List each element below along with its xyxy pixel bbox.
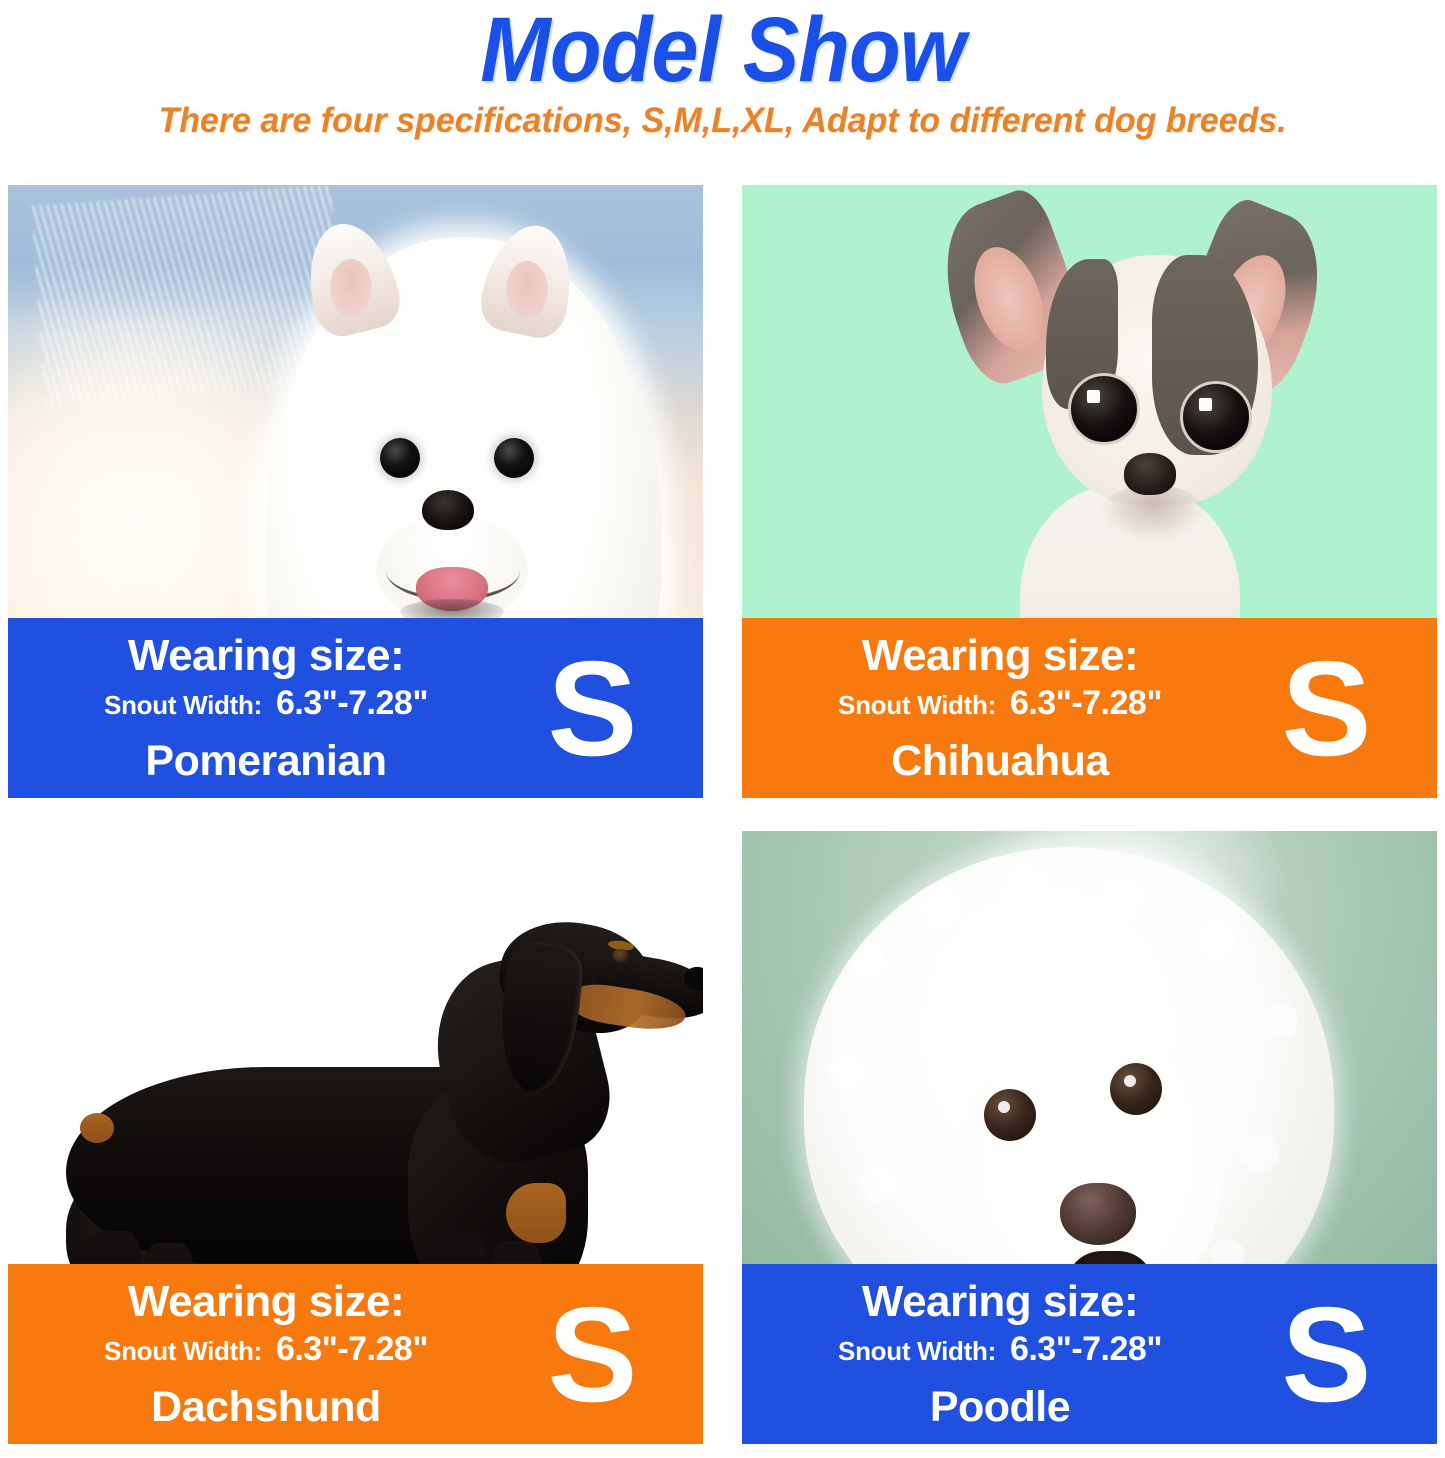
dog-ear-inner-left [330,259,372,317]
size-badge: S [500,641,703,776]
breed-card-grid: Wearing size: Snout Width:6.3"-7.28" Pom… [8,185,1437,1444]
breed-name: Poodle [772,1382,1228,1432]
size-label-text: Wearing size: Snout Width:6.3"-7.28" Pom… [8,631,500,786]
dog-nose [422,490,474,530]
breed-card-chihuahua[interactable]: Wearing size: Snout Width:6.3"-7.28" Chi… [742,185,1437,798]
dog-eye-right [1180,381,1252,453]
size-badge: S [1234,1287,1437,1422]
snout-width-value: 6.3"-7.28" [276,1330,428,1368]
page-subtitle: There are four specifications, S,M,L,XL,… [22,100,1424,142]
snout-width-row: Snout Width:6.3"-7.28" [38,681,494,736]
wearing-size-label: Wearing size: [772,1277,1228,1327]
breed-name: Pomeranian [38,736,494,786]
snout-width-label: Snout Width: [104,1336,262,1366]
breed-card-pomeranian[interactable]: Wearing size: Snout Width:6.3"-7.28" Pom… [8,185,703,798]
dog-eye-left [380,438,420,478]
dog-eye-glint-right [1199,398,1212,411]
snout-width-row: Snout Width:6.3"-7.28" [38,1327,494,1382]
breed-name: Dachshund [38,1382,494,1432]
size-label-bar-poodle: Wearing size: Snout Width:6.3"-7.28" Poo… [742,1264,1437,1444]
size-label-bar-chihuahua: Wearing size: Snout Width:6.3"-7.28" Chi… [742,618,1437,798]
wearing-size-label: Wearing size: [772,631,1228,681]
wearing-size-label: Wearing size: [38,631,494,681]
dog-photo-pomeranian [8,185,703,618]
snout-width-label: Snout Width: [104,690,262,720]
dog-eye-right [494,438,534,478]
snout-width-value: 6.3"-7.28" [276,684,428,722]
size-badge: S [1234,641,1437,776]
page-title: Model Show [58,2,1387,98]
snout-width-row: Snout Width:6.3"-7.28" [772,681,1228,736]
dog-photo-dachshund [8,831,703,1264]
size-label-text: Wearing size: Snout Width:6.3"-7.28" Dac… [8,1277,500,1432]
snout-width-row: Snout Width:6.3"-7.28" [772,1327,1228,1382]
size-label-text: Wearing size: Snout Width:6.3"-7.28" Poo… [742,1277,1234,1432]
dog-eye-right [1110,1063,1162,1115]
dog-nose [1124,453,1176,495]
wearing-size-label: Wearing size: [38,1277,494,1327]
snout-width-value: 6.3"-7.28" [1010,684,1162,722]
snout-width-label: Snout Width: [838,1336,996,1366]
snout-width-label: Snout Width: [838,690,996,720]
snout-width-value: 6.3"-7.28" [1010,1330,1162,1368]
dog-chin [400,599,504,618]
size-badge: S [500,1287,703,1422]
dog-eye-glint-left [998,1101,1010,1113]
dog-photo-chihuahua [742,185,1437,618]
breed-name: Chihuahua [772,736,1228,786]
dog-leg-front-left [428,1231,490,1264]
breed-card-poodle[interactable]: Wearing size: Snout Width:6.3"-7.28" Poo… [742,831,1437,1444]
dog-eye-left [1068,373,1140,445]
dog-photo-poodle [742,831,1437,1264]
dog-ear-inner-right [506,261,548,319]
dog-tan-marking-hip [80,1113,114,1143]
breed-card-dachshund[interactable]: Wearing size: Snout Width:6.3"-7.28" Dac… [8,831,703,1444]
size-label-bar-pomeranian: Wearing size: Snout Width:6.3"-7.28" Pom… [8,618,703,798]
dog-eye-glint-left [1087,390,1100,403]
dog-nose [1060,1183,1136,1245]
size-label-bar-dachshund: Wearing size: Snout Width:6.3"-7.28" Dac… [8,1264,703,1444]
dog-eye-glint-right [1124,1075,1136,1087]
size-label-text: Wearing size: Snout Width:6.3"-7.28" Chi… [742,631,1234,786]
header: Model Show There are four specifications… [0,0,1445,142]
dog-eye-left [984,1089,1036,1141]
dog-tan-marking-chest [506,1183,566,1243]
